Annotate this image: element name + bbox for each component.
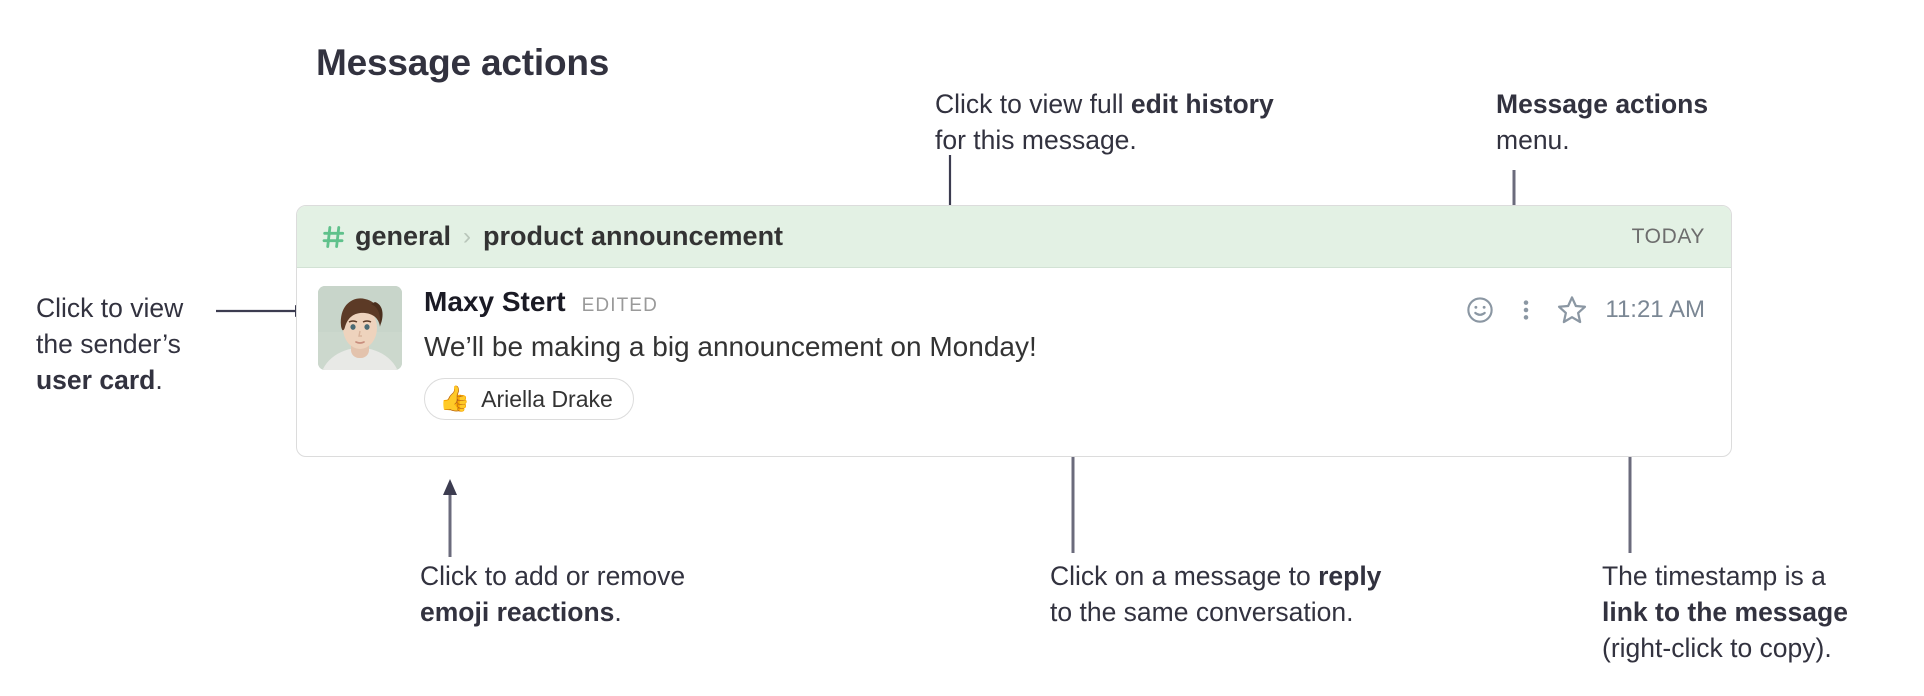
stream-name[interactable]: general xyxy=(355,221,451,252)
annotation-emphasis: reply xyxy=(1318,561,1381,591)
annotation-text: . xyxy=(614,597,621,627)
annotation-line: user card. xyxy=(36,362,183,398)
annotation-timestamp: The timestamp is alink to the message(ri… xyxy=(1602,558,1848,666)
annotation-text: Click on a message to xyxy=(1050,561,1318,591)
annotation-text: for this message. xyxy=(935,125,1137,155)
annotation-text: the sender’s xyxy=(36,329,181,359)
reaction-chip[interactable]: 👍 Ariella Drake xyxy=(424,378,634,420)
annotation-line: Click to add or remove xyxy=(420,558,685,594)
message-row[interactable]: Maxy Stert EDITED We’ll be making a big … xyxy=(297,268,1731,420)
annotation-line: menu. xyxy=(1496,122,1708,158)
annotation-emphasis: user card xyxy=(36,365,155,395)
star-icon[interactable] xyxy=(1549,290,1595,330)
annotation-line: the sender’s xyxy=(36,326,183,362)
annotation-line: link to the message xyxy=(1602,594,1848,630)
annotation-text: . xyxy=(155,365,162,395)
annotation-actions-menu: Message actionsmenu. xyxy=(1496,86,1708,158)
annotation-text: Click to view full xyxy=(935,89,1131,119)
annotation-text: to the same conversation. xyxy=(1050,597,1353,627)
sender-name[interactable]: Maxy Stert xyxy=(424,286,566,318)
annotation-text: Click to view xyxy=(36,293,183,323)
annotation-line: Click to view xyxy=(36,290,183,326)
emoji-reaction-icon[interactable] xyxy=(1457,290,1503,330)
annotation-edit-history: Click to view full edit historyfor this … xyxy=(935,86,1274,158)
annotation-emoji-reactions: Click to add or removeemoji reactions. xyxy=(420,558,685,630)
reaction-list: 👍 Ariella Drake xyxy=(424,378,1705,420)
breadcrumb-separator-icon: › xyxy=(463,225,471,249)
topic-name[interactable]: product announcement xyxy=(483,221,783,252)
vertical-dots-icon[interactable] xyxy=(1503,290,1549,330)
hash-icon[interactable] xyxy=(321,224,347,250)
annotation-emphasis: Message actions xyxy=(1496,89,1708,119)
annotation-emphasis: emoji reactions xyxy=(420,597,614,627)
annotation-text: The timestamp is a xyxy=(1602,561,1826,591)
annotation-emphasis: edit history xyxy=(1131,89,1274,119)
annotation-line: to the same conversation. xyxy=(1050,594,1381,630)
reaction-user-label: Ariella Drake xyxy=(481,386,613,413)
annotation-line: (right-click to copy). xyxy=(1602,630,1848,666)
thumbs-up-icon: 👍 xyxy=(439,387,470,412)
page-title: Message actions xyxy=(316,42,609,84)
annotation-line: for this message. xyxy=(935,122,1274,158)
illustration-canvas: Message actions Click to view full edit … xyxy=(0,0,1924,696)
annotation-line: Message actions xyxy=(1496,86,1708,122)
annotation-text: (right-click to copy). xyxy=(1602,633,1832,663)
annotation-line: The timestamp is a xyxy=(1602,558,1848,594)
recipient-date[interactable]: TODAY xyxy=(1632,225,1705,249)
message-card: general › product announcement TODAY xyxy=(296,205,1732,457)
annotation-user-card: Click to viewthe sender’suser card. xyxy=(36,290,183,398)
edited-badge[interactable]: EDITED xyxy=(582,295,658,317)
annotation-line: Click to view full edit history xyxy=(935,86,1274,122)
message-controls: 11:21 AM xyxy=(1457,290,1705,330)
annotation-text: Click to add or remove xyxy=(420,561,685,591)
annotation-text: menu. xyxy=(1496,125,1570,155)
avatar[interactable] xyxy=(318,286,402,370)
message-content[interactable]: We’ll be making a big announcement on Mo… xyxy=(424,329,1705,365)
annotation-line: emoji reactions. xyxy=(420,594,685,630)
annotation-emphasis: link to the message xyxy=(1602,597,1848,627)
message-timestamp[interactable]: 11:21 AM xyxy=(1605,296,1705,324)
annotation-reply: Click on a message to replyto the same c… xyxy=(1050,558,1381,630)
annotation-line: Click on a message to reply xyxy=(1050,558,1381,594)
recipient-bar: general › product announcement TODAY xyxy=(297,206,1731,268)
